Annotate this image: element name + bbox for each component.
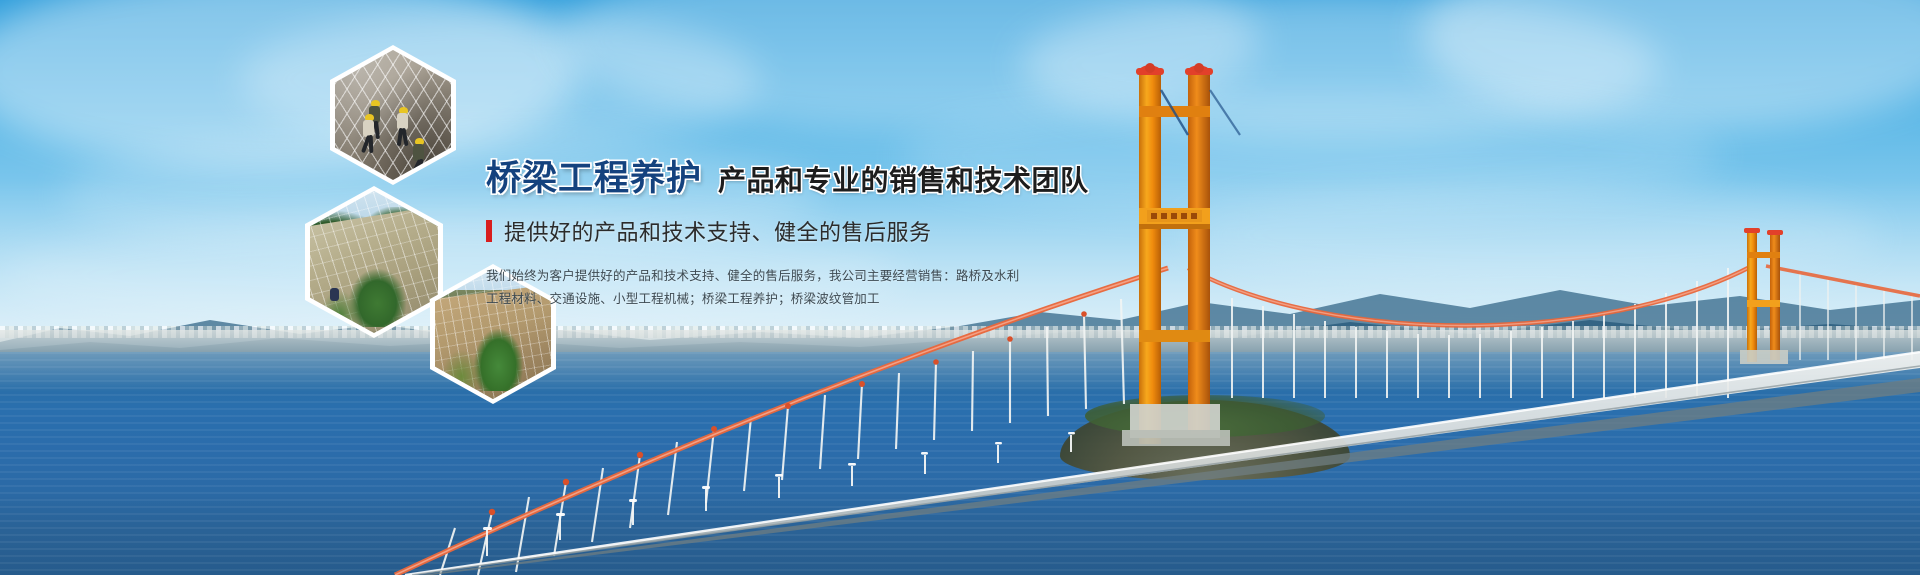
subtitle-text: 提供好的产品和技术支持、健全的售后服务	[504, 215, 932, 247]
subtitle-row: 提供好的产品和技术支持、健全的售后服务	[486, 215, 1106, 247]
hex-photo-2[interactable]	[305, 186, 443, 338]
hero-banner: 桥梁工程养护 产品和专业的销售和技术团队 提供好的产品和技术支持、健全的售后服务…	[0, 0, 1920, 575]
photo-vegetated-slope	[310, 191, 438, 333]
description-line: 工程材料、交通设施、小型工程机械；桥梁工程养护；桥梁波纹管加工	[486, 288, 1106, 311]
headline-secondary: 产品和专业的销售和技术团队	[718, 159, 1089, 201]
accent-bar-icon	[486, 220, 492, 242]
description-text: 我们始终为客户提供好的产品和技术支持、健全的售后服务，我公司主要经营销售：路桥及…	[486, 265, 1106, 311]
worker-figure	[330, 288, 339, 301]
shrub	[442, 350, 481, 394]
headline-row: 桥梁工程养护 产品和专业的销售和技术团队	[486, 150, 1106, 201]
wire-mesh-overlay	[335, 50, 451, 180]
photo-rock-slope	[335, 50, 451, 180]
shrub	[320, 290, 358, 333]
banner-text-block: 桥梁工程养护 产品和专业的销售和技术团队 提供好的产品和技术支持、健全的售后服务…	[486, 150, 1106, 311]
shrub	[474, 329, 523, 391]
page-title: 桥梁工程养护	[486, 150, 702, 201]
bridge-tower-far	[1740, 228, 1788, 364]
description-line: 我们始终为客户提供好的产品和技术支持、健全的售后服务，我公司主要经营销售：路桥及…	[486, 265, 1106, 288]
bridge-tower-main	[1122, 63, 1240, 446]
hex-photo-1[interactable]	[330, 45, 456, 185]
